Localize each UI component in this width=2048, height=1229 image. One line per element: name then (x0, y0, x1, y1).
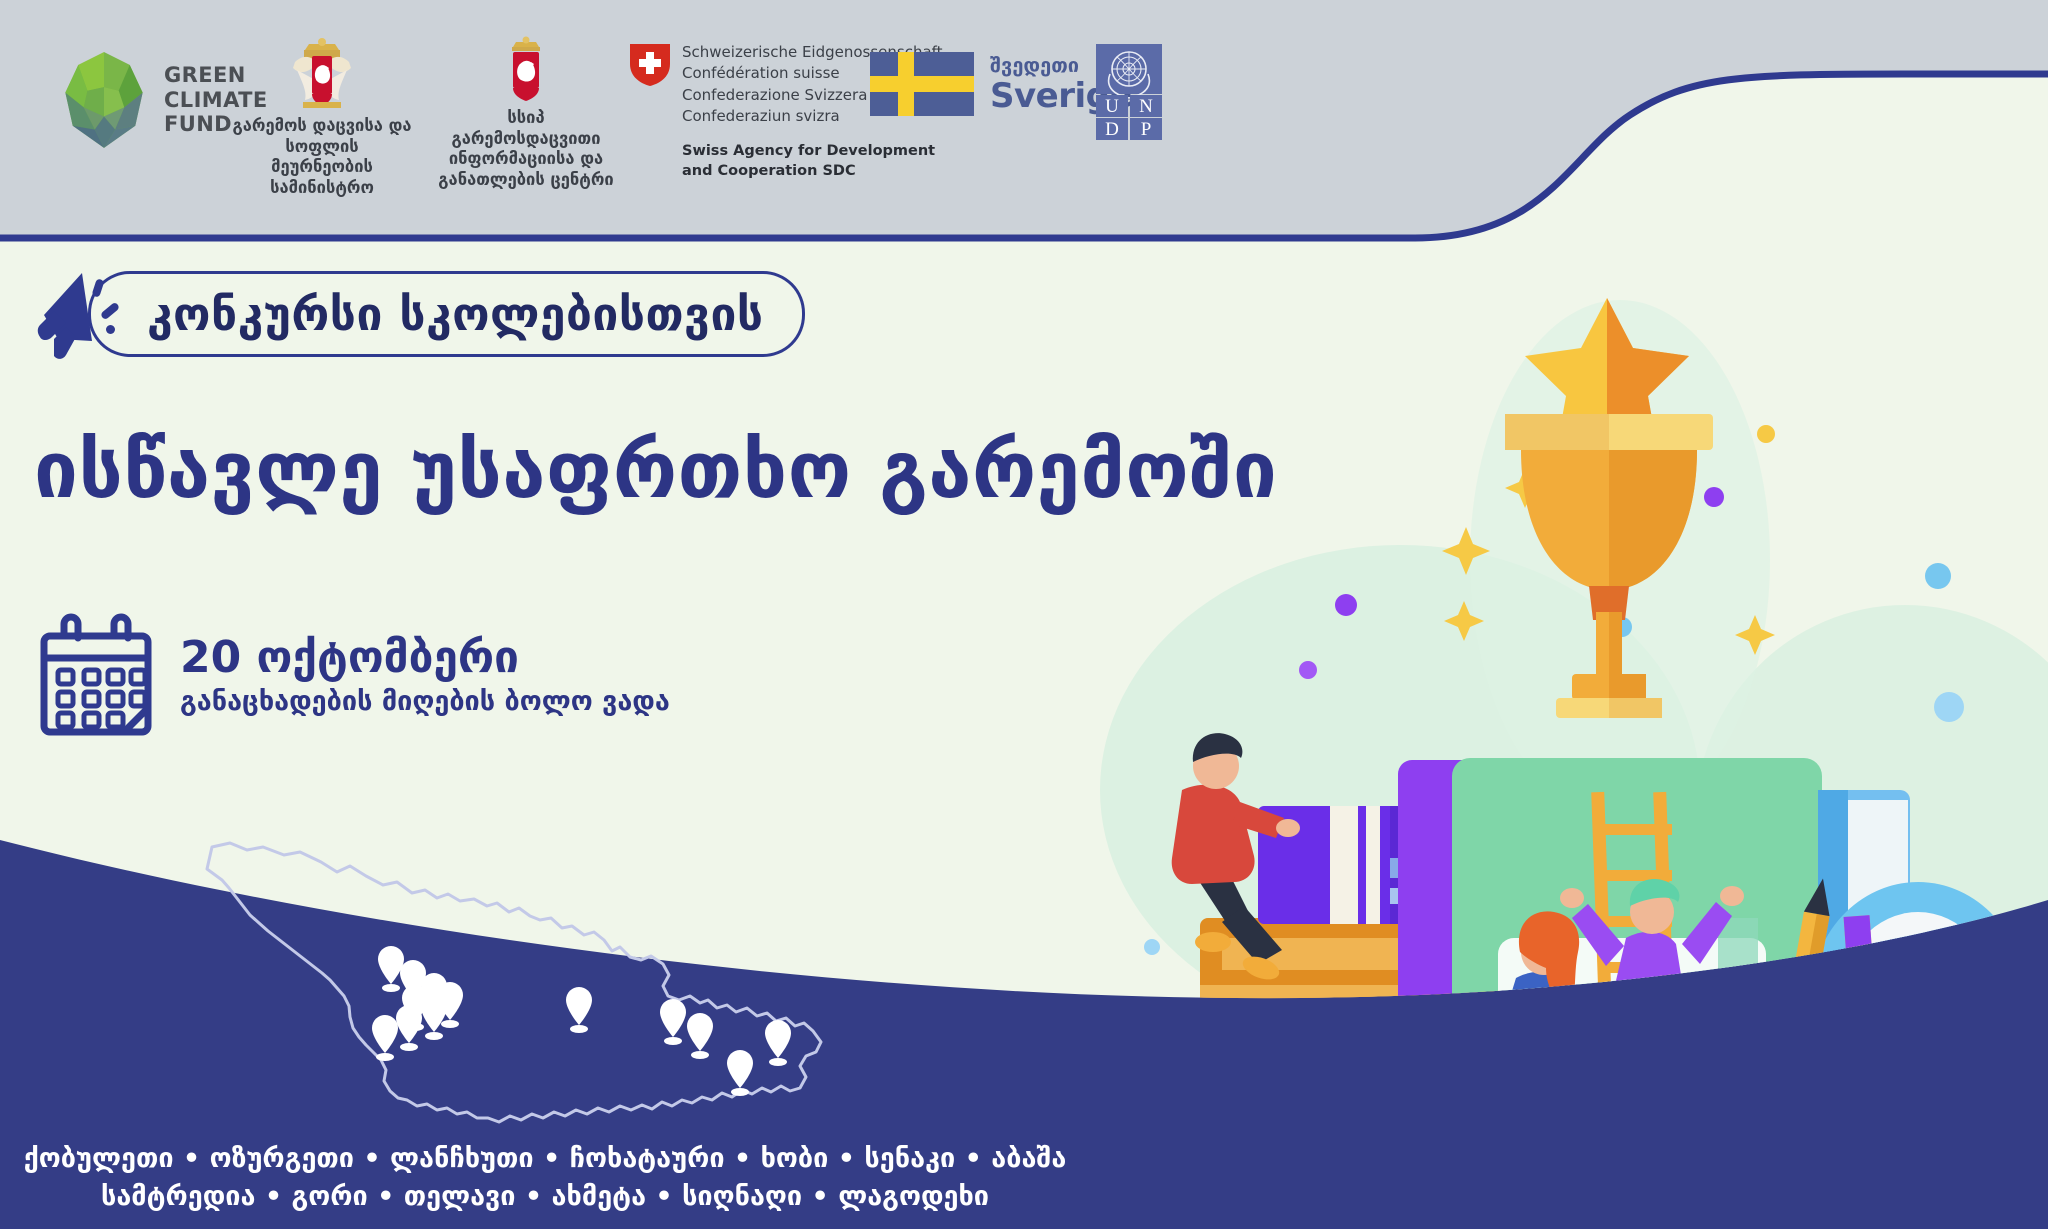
ministry-name: გარემოს დაცვისა და სოფლის მეურნეობის სამ… (222, 116, 422, 199)
calendar-icon (36, 612, 156, 740)
svg-text:P: P (1141, 119, 1152, 140)
page-title: ისწავლე უსაფრთხო გარემოში (34, 426, 1277, 516)
deadline-note: განაცხადების მიღების ბოლო ვადა (180, 687, 670, 717)
logo-environmental-info-centre: სსიპ გარემოსდაცვითი ინფორმაციისა და განა… (436, 36, 616, 191)
announcement-badge: კონკურსი სკოლებისთვის (32, 272, 805, 356)
svg-text:U: U (1105, 96, 1119, 117)
poster-canvas: GREEN CLIMATE FUND გარემ (0, 0, 2048, 1229)
badge-label: კონკურსი სკოლებისთვის (147, 287, 764, 341)
svg-text:N: N (1139, 96, 1153, 117)
magnifier-icon (1808, 882, 2026, 1129)
gcf-globe-icon (58, 50, 150, 150)
student-girl-purple-icon (1560, 879, 1744, 1111)
deadline-text: 20 ოქტომბერი განაცხადების მიღების ბოლო ვ… (180, 635, 670, 717)
centre-name: სსიპ გარემოსდაცვითი ინფორმაციისა და განა… (436, 108, 616, 191)
city-list-line-2: სამტრედია • გორი • თელავი • ახმეტა • სიღ… (0, 1178, 1090, 1216)
badge-pill: კონკურსი სკოლებისთვის (88, 271, 805, 357)
decor-slab (1718, 918, 1758, 1198)
logo-undp: U N D P (1096, 44, 1162, 140)
swiss-shield-icon (630, 44, 670, 86)
megaphone-icon (32, 267, 122, 361)
swiss-sdc-agency: Swiss Agency for Development and Coopera… (682, 141, 943, 181)
un-emblem-icon: U N D P (1096, 44, 1162, 140)
georgia-shield-icon (504, 36, 548, 102)
sweden-flag-icon (870, 52, 974, 116)
logo-ministry-environment: გარემოს დაცვისა და სოფლის მეურნეობის სამ… (222, 36, 422, 199)
city-list: ქობულეთი • ოზურგეთი • ლანჩხუთი • ჩოხატაუ… (0, 1140, 1090, 1217)
svg-text:D: D (1105, 119, 1119, 140)
deadline-date: 20 ოქტომბერი (180, 635, 670, 681)
logo-sweden: შვედეთი Sverige (870, 52, 1132, 116)
georgia-coat-of-arms-icon (289, 36, 355, 110)
city-list-line-1: ქობულეთი • ოზურგეთი • ლანჩხუთი • ჩოხატაუ… (0, 1140, 1090, 1178)
deadline-block: 20 ოქტომბერი განაცხადების მიღების ბოლო ვ… (36, 612, 670, 740)
trophy-icon (1505, 414, 1713, 718)
partner-logo-strip: GREEN CLIMATE FUND გარემ (0, 0, 1560, 190)
